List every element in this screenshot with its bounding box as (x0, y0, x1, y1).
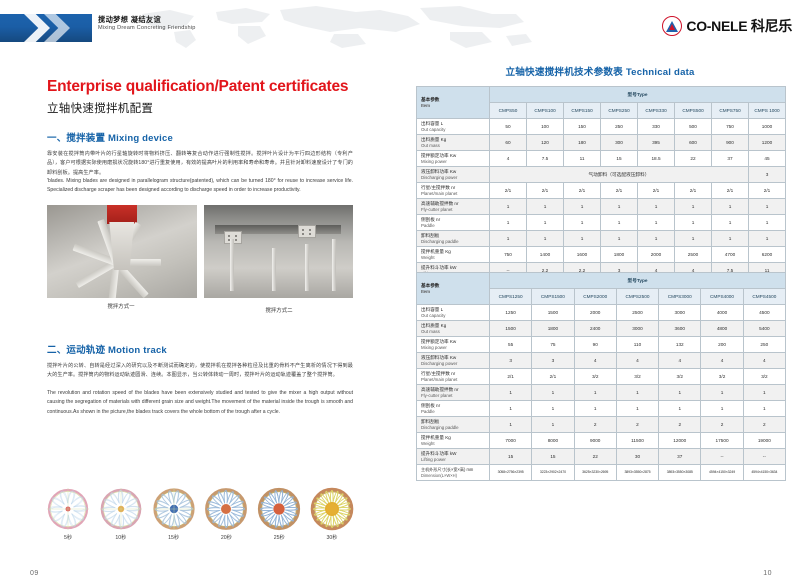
model-header: CMPS100 (527, 103, 564, 119)
table-row: 出料质量 KgOut mass601201803003956009001200 (417, 135, 786, 151)
table-cell: 1 (749, 215, 786, 231)
table-row: 液压卸料功率 KwDischarging power3344444 (417, 353, 786, 369)
motion-track-25s: 25秒 (255, 486, 303, 548)
row-label: 出料容量 LOut capacity (417, 119, 490, 135)
section-heading-motion-track: 二、运动轨迹 Motion track (47, 342, 167, 356)
table-cell: 1 (712, 215, 749, 231)
table-cell: 1 (532, 385, 574, 401)
table-cell: 3/2 (659, 369, 701, 385)
table-cell: 1 (490, 199, 527, 215)
table-cell: 22 (675, 151, 712, 167)
table-cell: 75 (532, 337, 574, 353)
table-cell: 15 (490, 449, 532, 465)
table-cell: 1500 (490, 321, 532, 337)
motion-track-label: 25秒 (255, 534, 303, 541)
table-row: 出料容量 LOut capacity5010015025033050075010… (417, 119, 786, 135)
table-cell: 3058×2756×2395 (490, 465, 532, 481)
table-cell: 1 (659, 385, 701, 401)
table-cell: 19000 (743, 433, 785, 449)
row-label: 高速辅助搅拌数 nrFly-cutter planet (417, 199, 490, 215)
table-row: 搅拌额定功率 KwMixing power557590110132200250 (417, 337, 786, 353)
table-cell: 2400 (574, 321, 616, 337)
table-cell: 1400 (527, 247, 564, 263)
table-cell: 1500 (532, 305, 574, 321)
table-cell: 2 (574, 417, 616, 433)
table-cell: 750 (490, 247, 527, 263)
table-row: 卸料刮板Discharging paddle1122222 (417, 417, 786, 433)
table-cell: 250 (601, 119, 638, 135)
row-label: 侧刮板 nrPaddle (417, 215, 490, 231)
table-cell: 2000 (638, 247, 675, 263)
table-header-cell: 型号Type (490, 273, 786, 289)
table-cell: 4594×4150×3249 (701, 465, 743, 481)
right-page: 立轴快速搅拌机技术参数表 Technical data 基本参数Item型号Ty… (400, 54, 800, 542)
table-cell: 1 (564, 231, 601, 247)
model-header: CMPS 1000 (749, 103, 786, 119)
table-cell: 4 (659, 353, 701, 369)
table-cell: 18.5 (638, 151, 675, 167)
model-header: CMPS330 (638, 103, 675, 119)
page-header: 搅动梦想 凝结友谊 Mixing Dream Concreting Friend… (0, 0, 800, 54)
table-cell: 1 (743, 385, 785, 401)
table-cell: 1 (490, 401, 532, 417)
table-cell: -- (743, 449, 785, 465)
table-cell: 2/1 (675, 183, 712, 199)
model-header: CMPS3000 (659, 289, 701, 305)
table-cell: 1 (527, 215, 564, 231)
table-cell: 1 (712, 231, 749, 247)
photo1-caption: 搅拌方式一 (47, 302, 195, 310)
row-label: 主机外形尺寸(长×宽×高) mmDimension(L×W×H) (417, 465, 490, 481)
section-heading-mixing-device: 一、搅拌装置 Mixing device (47, 130, 173, 144)
table-cell: 17500 (701, 433, 743, 449)
table-cell: 3893×3550×3085 (659, 465, 701, 481)
company-slogan: 搅动梦想 凝结友谊 Mixing Dream Concreting Friend… (98, 16, 196, 32)
table-cell: 2/1 (638, 183, 675, 199)
table-cell: 1000 (749, 119, 786, 135)
table-cell: 5400 (743, 321, 785, 337)
table-cell: 1200 (749, 135, 786, 151)
row-label: 液压卸料功率 KwDischarging power (417, 167, 490, 183)
table-cell: 1 (527, 231, 564, 247)
table-cell: 4 (701, 353, 743, 369)
table-row: 高速辅助搅拌数 nrFly-cutter planet1111111 (417, 385, 786, 401)
table-cell: 2/1 (749, 183, 786, 199)
table-cell: 1 (701, 385, 743, 401)
table-cell: 150 (564, 119, 601, 135)
table-cell: 4 (490, 151, 527, 167)
table-cell: 15 (601, 151, 638, 167)
table-cell: 50 (490, 119, 527, 135)
slogan-en: Mixing Dream Concreting Friendship (98, 25, 196, 31)
table-cell: 2/1 (490, 183, 527, 199)
table-cell: 132 (659, 337, 701, 353)
table-cell: 1250 (490, 305, 532, 321)
table-cell: 2 (743, 417, 785, 433)
model-header: CMPS150 (564, 103, 601, 119)
table-cell: 1 (616, 385, 658, 401)
left-page: Enterprise qualification/Patent certific… (0, 54, 400, 542)
table-cell: 2/1 (601, 183, 638, 199)
mixing-device-photos (47, 205, 353, 298)
model-header: CMPS750 (712, 103, 749, 119)
table-cell: 3625×3230×2695 (574, 465, 616, 481)
table-cell: 3000 (659, 305, 701, 321)
table-cell: 1 (490, 417, 532, 433)
table-cell: 100 (527, 119, 564, 135)
table-cell: 2/1 (532, 369, 574, 385)
row-label: 卸料刮板Discharging paddle (417, 417, 490, 433)
table-cell: 4 (743, 353, 785, 369)
row-label: 搅拌额定功率 KwMixing power (417, 337, 490, 353)
table-cell: 2000 (574, 305, 616, 321)
row-label: 高速辅助搅拌数 nrFly-cutter planet (417, 385, 490, 401)
table-cell: 3 (749, 167, 786, 183)
section2-paragraph-en: The revolution and rotation speed of the… (47, 389, 353, 417)
table-cell: 1 (490, 231, 527, 247)
table-cell: 4500 (743, 305, 785, 321)
table-cell: 1 (574, 385, 616, 401)
table-cell: 3600 (659, 321, 701, 337)
table-cell: 3/2 (574, 369, 616, 385)
page-title-cn: 立轴快速搅拌机配置 (47, 100, 153, 116)
motion-track-label: 30秒 (308, 534, 356, 541)
table-row: 卸料刮板Discharging paddle11111111 (417, 231, 786, 247)
table-cell: 4594×4150×3634 (743, 465, 785, 481)
table-cell: 3/2 (701, 369, 743, 385)
table-row: 侧刮板 nrPaddle11111111 (417, 215, 786, 231)
motion-track-10s: 10秒 (97, 486, 145, 548)
table-cell: 4 (574, 353, 616, 369)
table-cell: 37 (712, 151, 749, 167)
motion-track-label: 20秒 (202, 534, 250, 541)
table-cell: 3223×2902×2470 (532, 465, 574, 481)
table-cell: 2/1 (564, 183, 601, 199)
table-cell: 120 (527, 135, 564, 151)
table-row: 主机外形尺寸(长×宽×高) mmDimension(L×W×H)3058×275… (417, 465, 786, 481)
table-row: 行星/主搅拌数 nrPlanet/main planet2/12/13/23/2… (417, 369, 786, 385)
table-row: 搅拌机重量 KgWeight75014001600180020002500470… (417, 247, 786, 263)
table-cell: 600 (675, 135, 712, 151)
motion-track-label: 15秒 (150, 534, 198, 541)
table-cell: 1 (675, 231, 712, 247)
table-cell: 110 (616, 337, 658, 353)
table-cell: 3893×3550×2875 (616, 465, 658, 481)
table-cell: 3 (532, 353, 574, 369)
table-row: 搅拌机重量 KgWeight70008000900011500120001750… (417, 433, 786, 449)
photo2-caption: 搅拌方式二 (204, 306, 354, 314)
table-cell: 2/1 (527, 183, 564, 199)
motion-track-15s: 15秒 (150, 486, 198, 548)
table-cell: 2 (659, 417, 701, 433)
table-cell: 200 (701, 337, 743, 353)
table-cell: 1 (712, 199, 749, 215)
table-cell: 1 (564, 199, 601, 215)
table-cell: 180 (564, 135, 601, 151)
table-cell: 1 (532, 401, 574, 417)
table-row: 液压卸料功率 KwDischarging power气动卸料（可选配液压卸料）3 (417, 167, 786, 183)
table-cell: 4700 (712, 247, 749, 263)
brand-name: CO-NELE 科尼乐 (686, 16, 792, 36)
table-cell: 1 (532, 417, 574, 433)
table-cell: 2 (616, 417, 658, 433)
table-row: 高速辅助搅拌数 nrFly-cutter planet11111111 (417, 199, 786, 215)
table-header-cell: 基本参数Item (417, 273, 490, 305)
row-label: 侧刮板 nrPaddle (417, 401, 490, 417)
table-cell: 6200 (749, 247, 786, 263)
page-title-en: Enterprise qualification/Patent certific… (47, 78, 348, 96)
merged-note-cell: 气动卸料（可选配液压卸料） (490, 167, 749, 183)
table-cell: 1 (527, 199, 564, 215)
table-cell: 1 (638, 215, 675, 231)
model-header: CMPS4500 (743, 289, 785, 305)
co-nele-triangle-logo (662, 16, 682, 36)
table-cell: 1 (601, 199, 638, 215)
table-cell: 3/2 (616, 369, 658, 385)
table-cell: -- (701, 449, 743, 465)
slogan-cn: 搅动梦想 凝结友谊 (98, 16, 196, 24)
technical-data-table-1: 基本参数Item型号TypeCMPS50CMPS100CMPS150CMPS25… (416, 86, 786, 295)
table-header-cell: 型号Type (490, 87, 786, 103)
row-label: 搅拌额定功率 KwMixing power (417, 151, 490, 167)
table-cell: 1 (743, 401, 785, 417)
table-cell: 7000 (490, 433, 532, 449)
table-cell: 2500 (675, 247, 712, 263)
model-header: CMPS2000 (574, 289, 616, 305)
mixing-trough-photo (204, 205, 354, 298)
table-cell: 8000 (532, 433, 574, 449)
table-row: 侧刮板 nrPaddle1111111 (417, 401, 786, 417)
table-cell: 11500 (616, 433, 658, 449)
model-header: CMPS1250 (490, 289, 532, 305)
page-number-right: 10 (763, 570, 772, 577)
row-label: 卸料刮板Discharging paddle (417, 231, 490, 247)
table-cell: 1 (749, 199, 786, 215)
table-cell: 750 (712, 119, 749, 135)
model-header: CMPS4000 (701, 289, 743, 305)
model-header: CMPS250 (601, 103, 638, 119)
mixing-blades-photo (47, 205, 197, 298)
motion-track-20s: 20秒 (202, 486, 250, 548)
motion-track-5s: 5秒 (44, 486, 92, 548)
motion-track-label: 5秒 (44, 534, 92, 541)
model-header: CMPS1500 (532, 289, 574, 305)
table-cell: 1 (490, 215, 527, 231)
table-cell: 2/1 (490, 369, 532, 385)
table-cell: 37 (659, 449, 701, 465)
table-cell: 1 (638, 199, 675, 215)
table-cell: 330 (638, 119, 675, 135)
table-cell: 1 (659, 401, 701, 417)
motion-track-diagrams: 5秒10秒15秒20秒25秒30秒 (44, 486, 356, 548)
table-cell: 500 (675, 119, 712, 135)
row-label: 出料质量 KgOut mass (417, 321, 490, 337)
table-cell: 1 (675, 215, 712, 231)
table-cell: 30 (616, 449, 658, 465)
table-cell: 1 (616, 401, 658, 417)
table-cell: 7.5 (527, 151, 564, 167)
table-cell: 250 (743, 337, 785, 353)
row-label: 出料质量 KgOut mass (417, 135, 490, 151)
table-cell: 22 (574, 449, 616, 465)
table-cell: 1 (638, 231, 675, 247)
row-label: 搅拌机重量 KgWeight (417, 247, 490, 263)
table-cell: 2/1 (712, 183, 749, 199)
table-cell: 11 (564, 151, 601, 167)
table-row: 搅拌额定功率 KwMixing power47.5111518.5223745 (417, 151, 786, 167)
table-cell: 55 (490, 337, 532, 353)
table-cell: 60 (490, 135, 527, 151)
table-cell: 1 (701, 401, 743, 417)
section2-paragraph-cn: 搅拌叶片的公转、自转是经过深入的研究以及不断测试而确定的，使搅拌机在搅拌各种粒径… (47, 362, 353, 381)
table-cell: 300 (601, 135, 638, 151)
technical-data-table-2: 基本参数Item型号TypeCMPS1250CMPS1500CMPS2000CM… (416, 272, 786, 481)
table-cell: 395 (638, 135, 675, 151)
row-label: 搅拌机重量 KgWeight (417, 433, 490, 449)
row-label: 行星/主搅拌数 nrPlanet/main planet (417, 183, 490, 199)
row-label: 液压卸料功率 KwDischarging power (417, 353, 490, 369)
model-header: CMPS50 (490, 103, 527, 119)
table-cell: 4 (616, 353, 658, 369)
brand-lockup: CO-NELE 科尼乐 (662, 16, 792, 36)
table-cell: 1 (749, 231, 786, 247)
section1-paragraph-cn: 靠安装在搅拌筒内带叶片的行星轴旋转时将物料挤压、翻转等复合动作进行强制性搅拌。搅… (47, 150, 353, 178)
table-cell: 3 (490, 353, 532, 369)
table-cell: 2 (701, 417, 743, 433)
table-cell: 1 (564, 215, 601, 231)
model-header: CMPS2500 (616, 289, 658, 305)
double-chevron-logo (0, 14, 92, 42)
table-row: 提升料斗功率 kWLifting power1515223037---- (417, 449, 786, 465)
table-header-cell: 基本参数Item (417, 87, 490, 119)
table-cell: 1 (601, 215, 638, 231)
table-cell: 1800 (532, 321, 574, 337)
table-row: 出料容量 LOut capacity1250150020002500300040… (417, 305, 786, 321)
table-cell: 1600 (564, 247, 601, 263)
row-label: 行星/主搅拌数 nrPlanet/main planet (417, 369, 490, 385)
table-cell: 1 (574, 401, 616, 417)
row-label: 出料容量 LOut capacity (417, 305, 490, 321)
model-header: CMPS500 (675, 103, 712, 119)
table-cell: 1 (601, 231, 638, 247)
table-cell: 1800 (601, 247, 638, 263)
technical-data-title: 立轴快速搅拌机技术参数表 Technical data (400, 64, 800, 78)
table-row: 出料质量 KgOut mass1500180024003000360048005… (417, 321, 786, 337)
table-cell: 900 (712, 135, 749, 151)
table-cell: 15 (532, 449, 574, 465)
table-cell: 1 (675, 199, 712, 215)
motion-track-label: 10秒 (97, 534, 145, 541)
table-cell: 12000 (659, 433, 701, 449)
table-cell: 3/2 (743, 369, 785, 385)
table-cell: 1 (490, 385, 532, 401)
table-cell: 90 (574, 337, 616, 353)
page-number-left: 09 (30, 570, 39, 577)
table-cell: 2500 (616, 305, 658, 321)
section1-paragraph-en: 'blades. Mixing blades are designed in p… (47, 177, 353, 196)
table-cell: 45 (749, 151, 786, 167)
motion-track-30s: 30秒 (308, 486, 356, 548)
table-cell: 9000 (574, 433, 616, 449)
table-row: 行星/主搅拌数 nrPlanet/main planet2/12/12/12/1… (417, 183, 786, 199)
table-cell: 3000 (616, 321, 658, 337)
row-label: 提升料斗功率 kWLifting power (417, 449, 490, 465)
table-cell: 4800 (701, 321, 743, 337)
table-cell: 4000 (701, 305, 743, 321)
